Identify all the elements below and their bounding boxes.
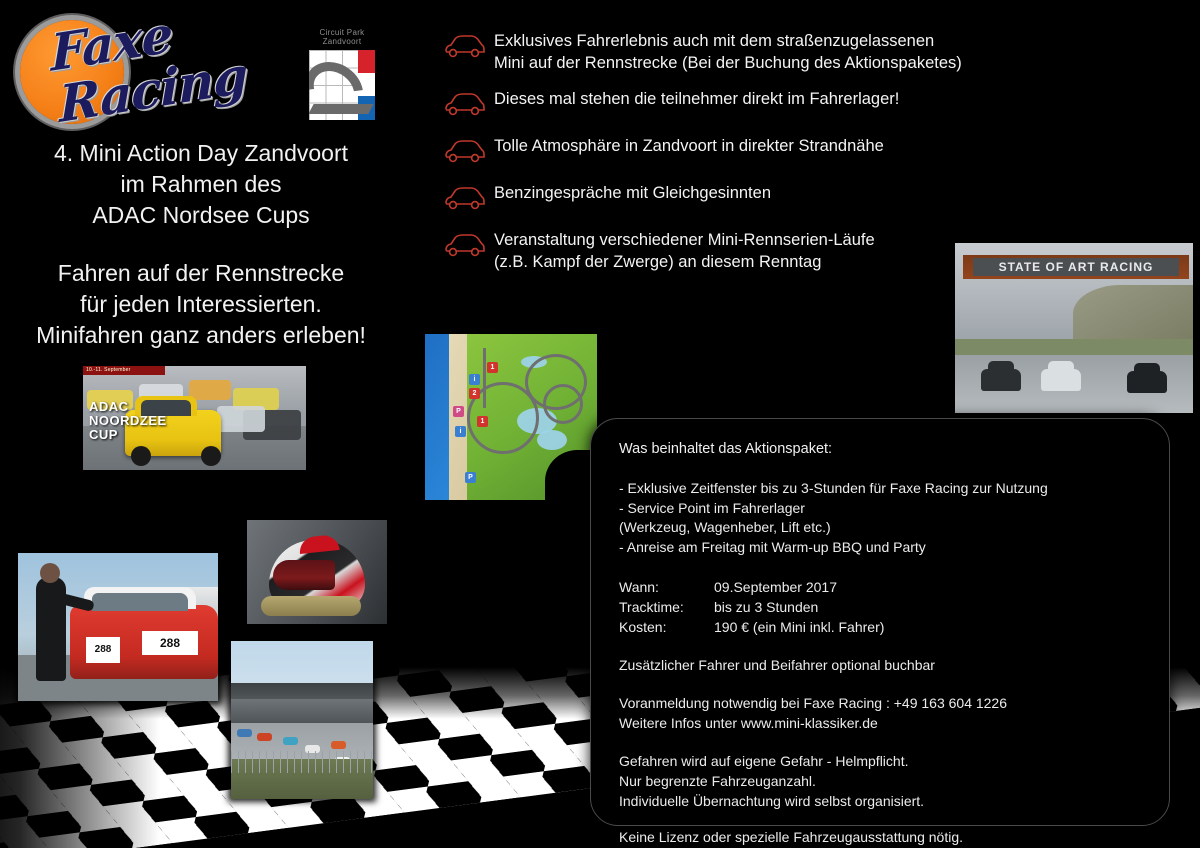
map-marker: i	[455, 426, 466, 437]
wheel	[131, 446, 151, 466]
detail-label: Tracktime:	[619, 597, 714, 617]
terms-list: Gefahren wird auf eigene Gefahr - Helmpf…	[619, 751, 1143, 811]
title-line-1: 4. Mini Action Day Zandvoort	[12, 138, 390, 169]
circuit-park-zandvoort-logo: Circuit Park Zandvoort	[303, 28, 381, 128]
logo-script-text: Faxe Racing	[14, 8, 210, 134]
package-items-list: - Exklusive Zeitfenster bis zu 3-Stunden…	[619, 479, 1143, 557]
map-marker: P	[453, 406, 464, 417]
mini-car	[981, 369, 1021, 391]
bullet-text: Dieses mal stehen die teilnehmer direkt …	[486, 88, 899, 110]
package-item: - Service Point im Fahrerlager	[619, 499, 1143, 519]
terms-line: Individuelle Übernachtung wird selbst or…	[619, 791, 1143, 811]
event-title: 4. Mini Action Day Zandvoort im Rahmen d…	[12, 138, 390, 231]
title-line-3: ADAC Nordsee Cups	[12, 200, 390, 231]
detail-value: 190 € (ein Mini inkl. Fahrer)	[714, 617, 1143, 637]
bullet-item: Exklusives Fahrerlebnis auch mit dem str…	[442, 30, 1062, 74]
action-package-infobox: Was beinhaltet das Aktionspaket: - Exklu…	[590, 418, 1170, 826]
map-marker: P	[465, 472, 476, 483]
grandstand-body	[231, 699, 373, 725]
detail-row: Kosten: 190 € (ein Mini inkl. Fahrer)	[619, 617, 1143, 637]
bullet-item: Benzingespräche mit Gleichgesinnten	[442, 182, 1062, 211]
adac-overlay-text: ADAC NOORDZEE CUP	[89, 400, 167, 442]
windscreen	[92, 593, 188, 611]
door-number-plate: 288	[86, 637, 120, 663]
mini-car-icon	[442, 91, 486, 117]
poster-canvas: Faxe Racing Circuit Park Zandvoort 4. Mi…	[0, 0, 1200, 848]
event-subtitle: Fahren auf der Rennstrecke für jeden Int…	[8, 258, 394, 351]
map-marker: 1	[487, 362, 498, 373]
title-line-2: im Rahmen des	[12, 169, 390, 200]
contact-website-line[interactable]: Weitere Infos unter www.mini-klassiker.d…	[619, 713, 1143, 733]
detail-label: Wann:	[619, 577, 714, 597]
bullet-text: Tolle Atmosphäre in Zandvoort in direkte…	[486, 135, 884, 157]
package-item: - Anreise am Freitag mit Warm-up BBQ und…	[619, 538, 1143, 558]
terms-line: Gefahren wird auf eigene Gefahr - Helmpf…	[619, 751, 1143, 771]
bullet-line: Dieses mal stehen die teilnehmer direkt …	[494, 90, 899, 108]
detail-value: 09.September 2017	[714, 577, 1143, 597]
map-marker: i	[469, 374, 480, 385]
zandvoort-line1: Circuit Park	[303, 28, 381, 37]
photo-grandstand-straight	[231, 641, 373, 799]
race-car	[331, 741, 346, 749]
overlay-line: CUP	[89, 428, 167, 442]
safety-fence	[231, 751, 373, 773]
detail-label: Kosten:	[619, 617, 714, 637]
contact-phone-line: Voranmeldung notwendig bei Faxe Racing :…	[619, 693, 1143, 713]
mini-car-icon	[442, 185, 486, 211]
bullet-line: Exklusives Fahrerlebnis auch mit dem str…	[494, 32, 934, 50]
zandvoort-grid-mark	[309, 50, 375, 120]
map-track-straight	[483, 348, 487, 408]
zandvoort-logo-text: Circuit Park Zandvoort	[303, 28, 381, 46]
bullet-item: Dieses mal stehen die teilnehmer direkt …	[442, 88, 1062, 117]
subtitle-line-1: Fahren auf der Rennstrecke	[8, 258, 394, 289]
bullet-text: Exklusives Fahrerlebnis auch mit dem str…	[486, 30, 962, 74]
map-sea	[425, 334, 449, 500]
bonnet-number-plate: 288	[142, 631, 198, 655]
bullet-item: Tolle Atmosphäre in Zandvoort in direkte…	[442, 135, 1062, 164]
dutch-flag-red	[358, 50, 375, 73]
mini-car-icon	[442, 33, 486, 59]
package-item: (Werkzeug, Wagenheber, Lift etc.)	[619, 518, 1143, 538]
photo-driver-with-mini: 288 288	[18, 553, 218, 701]
detail-value: bis zu 3 Stunden	[714, 597, 1143, 617]
bullet-line: Benzingespräche mit Gleichgesinnten	[494, 184, 771, 202]
feature-bullet-list: Exklusives Fahrerlebnis auch mit dem str…	[442, 30, 1062, 287]
photo-circuit-map: 1 i 2 P 1 i P	[425, 334, 597, 500]
detail-row: Wann: 09.September 2017	[619, 577, 1143, 597]
bullet-item: Veranstaltung verschiedener Mini-Rennser…	[442, 229, 1062, 273]
racing-gloves	[261, 596, 361, 616]
map-track-loop	[543, 384, 583, 424]
terms-line: Nur begrenzte Fahrzeuganzahl.	[619, 771, 1143, 791]
faxe-racing-logo: Faxe Racing	[14, 8, 210, 134]
bullet-text: Veranstaltung verschiedener Mini-Rennser…	[486, 229, 875, 273]
optional-booking-note: Zusätzlicher Fahrer und Beifahrer option…	[619, 655, 1143, 675]
event-details-table: Wann: 09.September 2017 Tracktime: bis z…	[619, 577, 1143, 637]
zandvoort-track-tail	[309, 104, 374, 114]
mini-car	[1127, 371, 1167, 393]
bullet-line: Veranstaltung verschiedener Mini-Rennser…	[494, 231, 875, 249]
zandvoort-line2: Zandvoort	[303, 37, 381, 46]
mini-car-icon	[442, 232, 486, 258]
package-item: - Exklusive Zeitfenster bis zu 3-Stunden…	[619, 479, 1143, 499]
background-car	[217, 406, 265, 432]
photo-racing-helmet	[247, 520, 387, 624]
bullet-line: Mini auf der Rennstrecke (Bei der Buchun…	[494, 54, 962, 72]
race-car	[283, 737, 298, 745]
race-car	[237, 729, 252, 737]
subtitle-line-2: für jeden Interessierten.	[8, 289, 394, 320]
background-car	[189, 380, 231, 400]
map-lake	[537, 430, 567, 450]
mini-car	[1041, 369, 1081, 391]
subtitle-line-3: Minifahren ganz anders erleben!	[8, 320, 394, 351]
bullet-line: (z.B. Kampf der Zwerge) an diesem Rennta…	[494, 253, 821, 271]
wheel	[201, 446, 221, 466]
race-car	[257, 733, 272, 741]
mini-car-icon	[442, 138, 486, 164]
overlay-line: ADAC	[89, 400, 167, 414]
driver-head	[40, 563, 60, 583]
bullet-text: Benzingespräche mit Gleichgesinnten	[486, 182, 771, 204]
map-marker: 1	[477, 416, 488, 427]
overlay-line: NOORDZEE	[89, 414, 167, 428]
driver-body	[36, 577, 66, 681]
contact-info: Voranmeldung notwendig bei Faxe Racing :…	[619, 693, 1143, 733]
detail-row: Tracktime: bis zu 3 Stunden	[619, 597, 1143, 617]
bullet-line: Tolle Atmosphäre in Zandvoort in direkte…	[494, 137, 884, 155]
license-note: Keine Lizenz oder spezielle Fahrzeugauss…	[619, 827, 1143, 847]
helmet-visor	[273, 560, 335, 590]
map-marker: 2	[469, 388, 480, 399]
photo-adac-noordzee-cup: ADAC NOORDZEE CUP 10.-11. September	[83, 366, 306, 470]
infobox-heading: Was beinhaltet das Aktionspaket:	[619, 441, 1143, 457]
adac-date-banner: 10.-11. September	[83, 366, 165, 375]
